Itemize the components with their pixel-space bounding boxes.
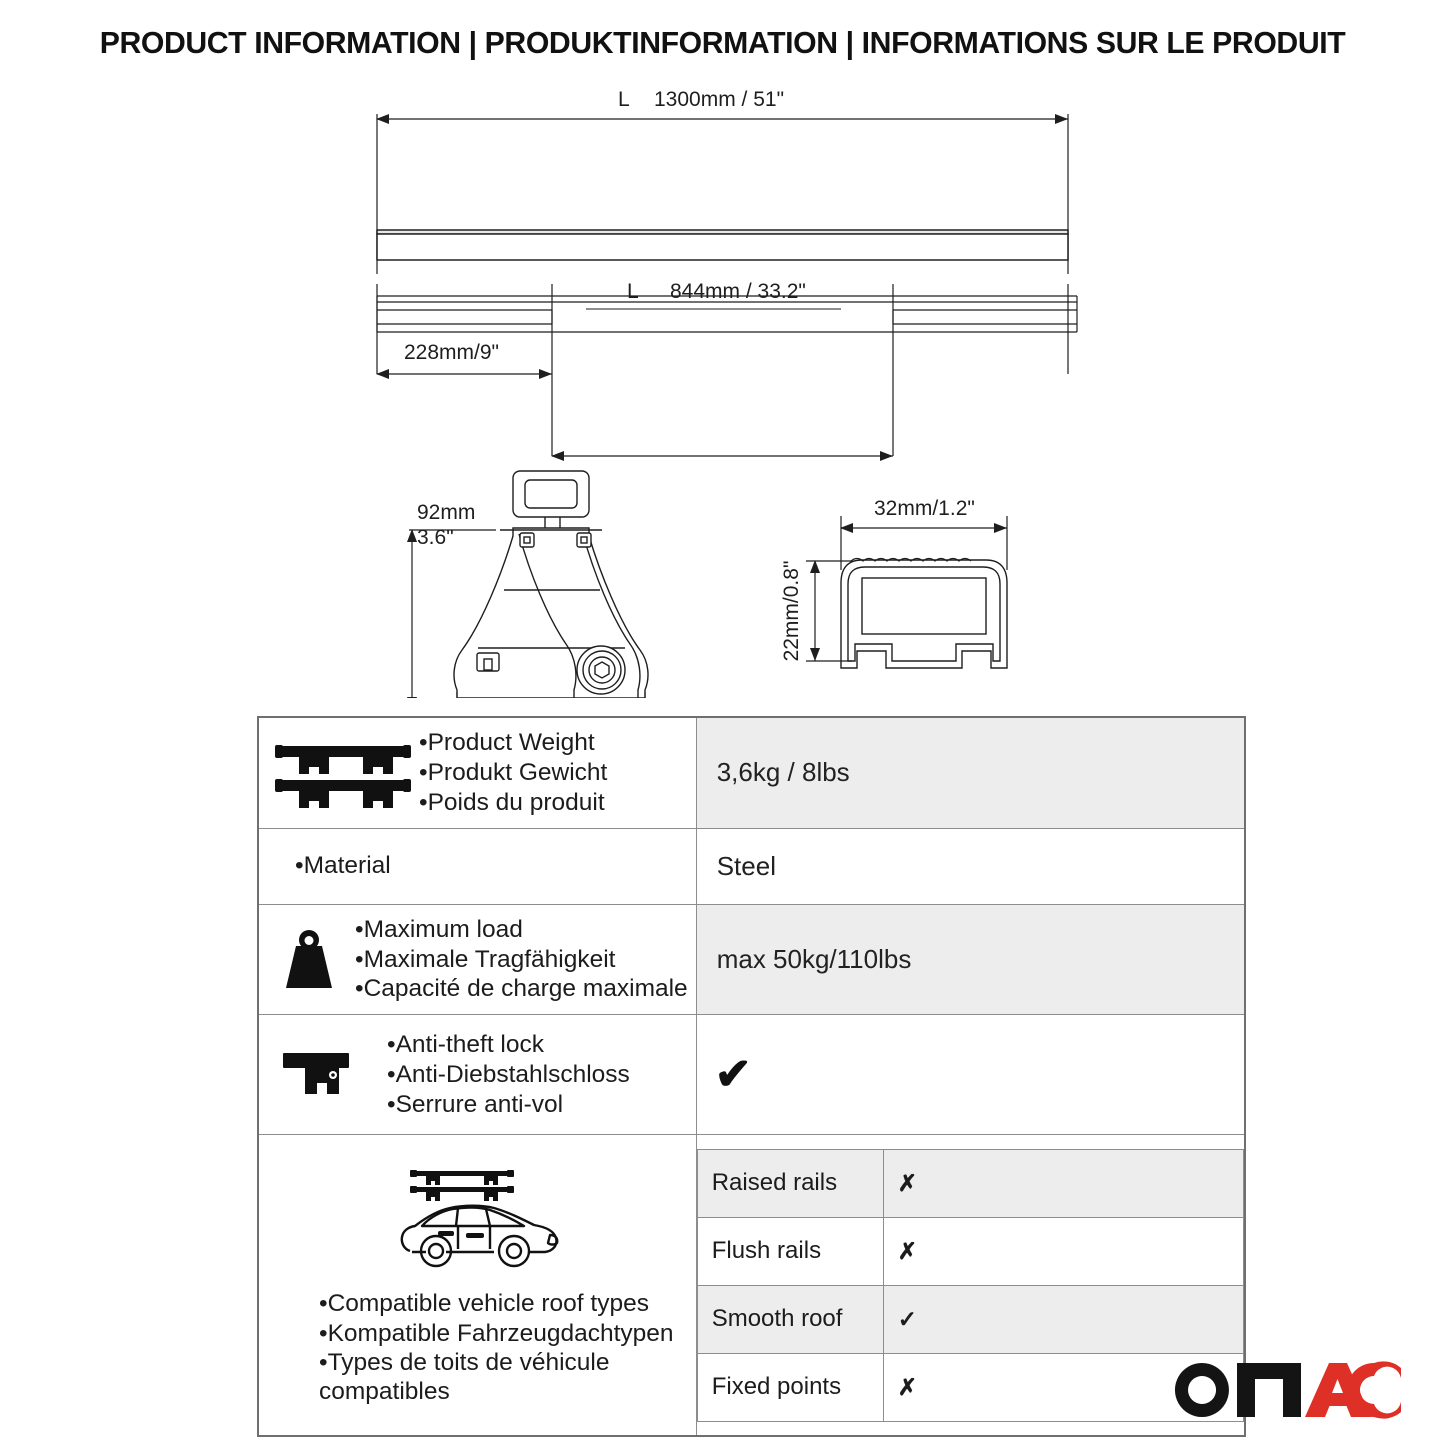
roof-option-mark-raised-rails: ✗ xyxy=(883,1149,1243,1217)
dim-label-profile-height: 22mm/0.8" xyxy=(780,561,803,662)
omac-logo xyxy=(1169,1357,1401,1423)
dim-label-span-value: 844mm / 33.2" xyxy=(670,280,806,303)
profile-cross-section xyxy=(841,559,1007,669)
lock-label-fr: •Serrure anti-vol xyxy=(387,1090,630,1120)
table-row: •Material Steel xyxy=(258,828,1245,904)
roof-label-de: •Kompatible Fahrzeugdachtypen xyxy=(319,1319,674,1348)
roof-option-row: Fixed points ✗ xyxy=(697,1353,1243,1421)
dim-label-foot-height-in: 3.6" xyxy=(417,526,454,549)
table-row: •Maximum load •Maximale Tragfähigkeit •C… xyxy=(258,904,1245,1015)
lock-checkmark: ✔ xyxy=(715,1050,752,1099)
two-crossbars-icon xyxy=(273,734,413,812)
roof-option-row: Raised rails ✗ xyxy=(697,1149,1243,1217)
dim-label-overall-prefix: L xyxy=(618,88,630,111)
dim-label-span-prefix: L xyxy=(627,280,639,303)
roof-option-label-raised-rails: Raised rails xyxy=(697,1149,883,1217)
product-information-page: PRODUCT INFORMATION | PRODUKTINFORMATION… xyxy=(0,0,1445,1445)
table-row: •Compatible vehicle roof types •Kompatib… xyxy=(258,1135,1245,1436)
roof-options-table: Raised rails ✗ Flush rails ✗ Smooth roof… xyxy=(697,1149,1244,1422)
lock-label-en: •Anti-theft lock xyxy=(387,1030,630,1060)
roof-label-en: •Compatible vehicle roof types xyxy=(319,1289,674,1318)
dim-label-profile-width: 32mm/1.2" xyxy=(874,497,975,520)
material-value: Steel xyxy=(696,828,1245,904)
dim-label-overall-value: 1300mm / 51" xyxy=(654,88,784,111)
roof-option-label-flush-rails: Flush rails xyxy=(697,1217,883,1285)
crossbar-side-view xyxy=(377,230,1068,260)
max-load-label-en: •Maximum load xyxy=(355,915,688,945)
roof-option-mark-flush-rails: ✗ xyxy=(883,1217,1243,1285)
foot-front-view xyxy=(454,471,648,698)
roof-types-labels: •Compatible vehicle roof types •Kompatib… xyxy=(319,1289,674,1407)
dim-label-foot-height-mm: 92mm xyxy=(417,501,475,524)
roof-option-label-smooth-roof: Smooth roof xyxy=(697,1285,883,1353)
lock-bar-icon xyxy=(273,1047,365,1103)
roof-option-row: Smooth roof ✓ xyxy=(697,1285,1243,1353)
specification-table: •Product Weight •Produkt Gewicht •Poids … xyxy=(257,716,1246,1437)
technical-drawing: L 1300mm / 51" 228mm/9" L 844mm / 33.2" … xyxy=(0,78,1445,698)
dim-span-between-feet xyxy=(552,306,893,456)
lock-row-label-cell: •Anti-theft lock •Anti-Diebstahlschloss … xyxy=(258,1015,696,1135)
weight-row-label-cell: •Product Weight •Produkt Gewicht •Poids … xyxy=(258,717,696,828)
table-row: •Product Weight •Produkt Gewicht •Poids … xyxy=(258,717,1245,828)
roof-options-cell: Raised rails ✗ Flush rails ✗ Smooth roof… xyxy=(696,1135,1245,1436)
roof-label-fr: •Types de toits de véhicule xyxy=(319,1348,674,1377)
roof-types-label-cell: •Compatible vehicle roof types •Kompatib… xyxy=(258,1135,696,1436)
page-title: PRODUCT INFORMATION | PRODUKTINFORMATION… xyxy=(7,26,1438,61)
weight-label-en: •Product Weight xyxy=(419,728,607,758)
max-load-labels: •Maximum load •Maximale Tragfähigkeit •C… xyxy=(355,915,688,1005)
roof-option-label-fixed-points: Fixed points xyxy=(697,1353,883,1421)
dim-label-foot-offset: 228mm/9" xyxy=(404,341,499,364)
max-load-row-label-cell: •Maximum load •Maximale Tragfähigkeit •C… xyxy=(258,904,696,1015)
roof-label-fr-cont: compatibles xyxy=(319,1377,674,1406)
car-with-roof-rack-icon xyxy=(390,1159,570,1279)
roof-option-row: Flush rails ✗ xyxy=(697,1217,1243,1285)
material-row-label-cell: •Material xyxy=(258,828,696,904)
material-label: •Material xyxy=(295,851,688,881)
lock-label-de: •Anti-Diebstahlschloss xyxy=(387,1060,630,1090)
max-load-label-de: •Maximale Tragfähigkeit xyxy=(355,945,688,975)
logo-letter-m xyxy=(1237,1363,1301,1417)
roof-option-mark-smooth-roof: ✓ xyxy=(883,1285,1243,1353)
weight-value: 3,6kg / 8lbs xyxy=(696,717,1245,828)
logo-letter-o xyxy=(1175,1363,1229,1417)
weight-label-de: •Produkt Gewicht xyxy=(419,758,607,788)
lock-value-cell: ✔ xyxy=(696,1015,1245,1135)
max-load-value: max 50kg/110lbs xyxy=(696,904,1245,1015)
lock-labels: •Anti-theft lock •Anti-Diebstahlschloss … xyxy=(387,1030,630,1120)
technical-drawing-svg: L 1300mm / 51" 228mm/9" L 844mm / 33.2" … xyxy=(0,78,1445,698)
omac-logo-svg xyxy=(1169,1357,1401,1423)
table-row: •Anti-theft lock •Anti-Diebstahlschloss … xyxy=(258,1015,1245,1135)
weight-label-fr: •Poids du produit xyxy=(419,788,607,818)
weight-labels: •Product Weight •Produkt Gewicht •Poids … xyxy=(419,728,607,818)
max-load-label-fr: •Capacité de charge maximale xyxy=(355,974,688,1004)
weight-icon xyxy=(273,926,345,992)
